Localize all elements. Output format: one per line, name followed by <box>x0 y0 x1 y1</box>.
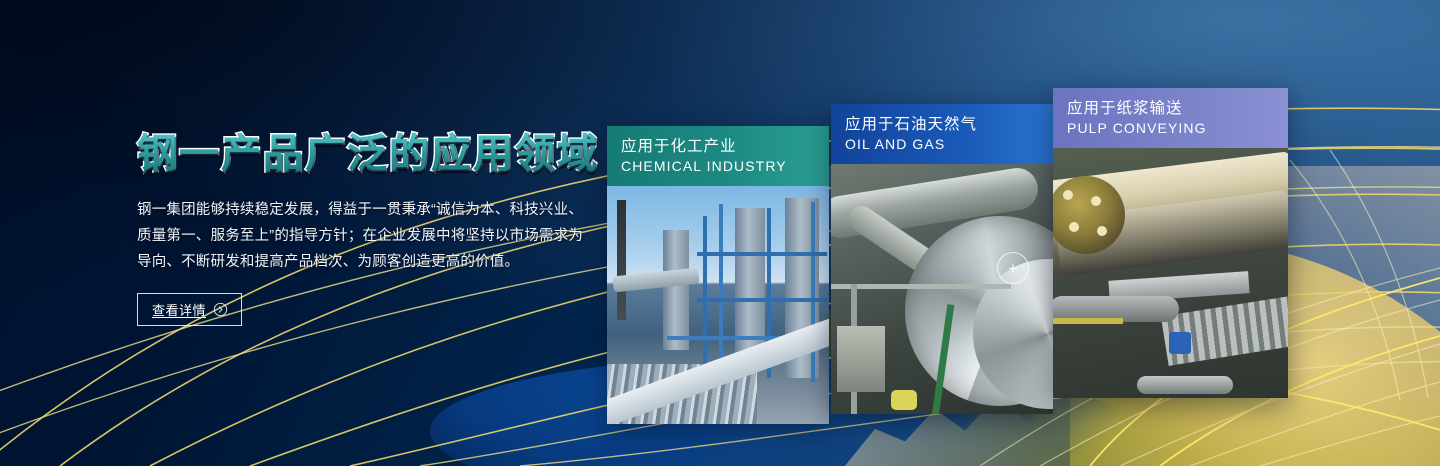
yellow-fitting <box>891 390 917 410</box>
chevron-right-circle-icon <box>213 302 228 317</box>
plus-circle-icon[interactable]: + <box>997 252 1029 284</box>
yellow-rail <box>1053 318 1123 324</box>
card-title-en: OIL AND GAS <box>845 135 1053 154</box>
steel-beam <box>703 216 707 376</box>
hero-description: 钢一集团能够持续稳定发展，得益于一贯秉承“诚信为本、科技兴业、质量第一、服务至上… <box>137 197 589 275</box>
page-title: 钢一产品广泛的应用领域 钢一产品广泛的应用领域 <box>137 133 607 179</box>
lower-pipe <box>1137 376 1233 394</box>
card-title-en: PULP CONVEYING <box>1067 119 1288 138</box>
card-title-cn: 应用于纸浆输送 <box>1067 99 1288 119</box>
card-chemical-industry[interactable]: 应用于化工产业 CHEMICAL INDUSTRY <box>607 126 829 424</box>
hero-copy-block: 钢一产品广泛的应用领域 钢一产品广泛的应用领域 钢一集团能够持续稳定发展，得益于… <box>137 133 607 326</box>
card-title-cn: 应用于石油天然气 <box>845 115 1053 135</box>
steel-beam <box>697 298 827 302</box>
view-details-button[interactable]: 查看详情 <box>137 293 242 326</box>
card-pulp-conveying[interactable]: 应用于纸浆输送 PULP CONVEYING <box>1053 88 1288 398</box>
card-title-cn: 应用于化工产业 <box>621 137 829 157</box>
steel-beam <box>811 202 815 382</box>
platform-rail <box>831 284 1011 289</box>
view-details-label: 查看详情 <box>152 300 206 319</box>
paper-mill-roller-photo <box>1053 148 1288 398</box>
card-title-en: CHEMICAL INDUSTRY <box>621 157 829 176</box>
card-header: 应用于化工产业 CHEMICAL INDUSTRY <box>607 126 829 186</box>
steel-beam <box>697 252 827 256</box>
oil-gas-pipes-photo: + <box>831 164 1053 414</box>
blue-valve <box>1169 332 1191 354</box>
tower-shape <box>663 230 689 350</box>
card-image-oil-gas: + <box>831 164 1053 414</box>
card-header: 应用于纸浆输送 PULP CONVEYING <box>1053 88 1288 148</box>
hero-banner: 钢一产品广泛的应用领域 钢一产品广泛的应用领域 钢一集团能够持续稳定发展，得益于… <box>0 0 1440 466</box>
steel-beam <box>719 204 723 380</box>
card-image-chemical-plant <box>607 186 829 424</box>
card-header: 应用于石油天然气 OIL AND GAS <box>831 104 1053 164</box>
chemical-plant-photo <box>607 186 829 424</box>
headline-fill: 钢一产品广泛的应用领域 <box>137 133 599 176</box>
control-cabinet <box>837 326 885 392</box>
smokestack-shape <box>617 200 626 320</box>
card-image-pulp-mill <box>1053 148 1288 398</box>
card-oil-and-gas[interactable]: 应用于石油天然气 OIL AND GAS + <box>831 104 1053 414</box>
doctor-blade <box>1161 296 1288 366</box>
